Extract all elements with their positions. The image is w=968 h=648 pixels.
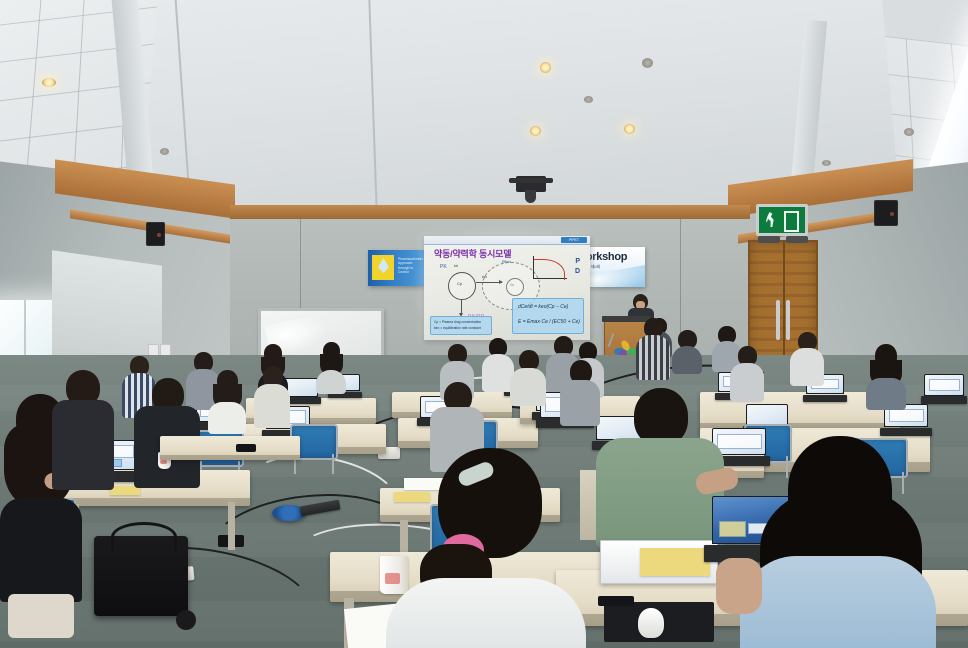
downlight (42, 78, 56, 87)
desk (160, 436, 300, 460)
attendee (254, 366, 290, 428)
projection-screen: PIPET 약동/약력학 동시모델 PK Cp kel Ce keo Effec… (424, 236, 590, 340)
downlight (642, 58, 653, 68)
equation-1: dCe/dt = keo(Cp − Ce) (518, 304, 568, 310)
downlight (160, 148, 169, 155)
definition-box: Cp = Plasma drug concentration keo = equ… (430, 316, 492, 335)
downlight (540, 62, 551, 73)
downlight (530, 126, 541, 136)
attendee (134, 378, 200, 488)
attendee-green-shirt (596, 388, 724, 548)
desk-leg (228, 502, 235, 550)
definition-1: Cp = Plasma drug concentration (434, 320, 481, 324)
keo-label: keo (482, 275, 487, 279)
definition-2: keo = equilibration rate constant (434, 326, 481, 330)
elimination-arrow (461, 299, 462, 313)
effect-concentration-graph (528, 256, 568, 282)
banner-left-line4: Control (398, 270, 423, 274)
attendee (316, 342, 346, 394)
keo-arrow (476, 282, 502, 283)
attendee (208, 370, 246, 434)
downlight (822, 160, 831, 166)
attendee-front-center (386, 448, 586, 648)
attendee-front-right (740, 436, 936, 648)
attendee (672, 330, 702, 374)
slide-pk-label: PK (440, 264, 447, 270)
pk-compartment (448, 272, 476, 300)
ceiling-projector (516, 176, 546, 192)
wall-speaker-left (146, 222, 165, 246)
kel-label: kel (454, 264, 458, 268)
attendee (790, 332, 824, 386)
exit-sign (756, 204, 808, 236)
wall-speaker-right (874, 200, 898, 226)
notepad (640, 548, 710, 576)
pd-label-d: D (575, 268, 580, 275)
attendee (52, 370, 114, 490)
attendee-arm (716, 558, 762, 614)
downlight (584, 96, 593, 103)
cable (598, 596, 634, 606)
equation-box: dCe/dt = keo(Cp − Ce) E = Emax·Ce / (EC5… (512, 298, 584, 334)
slide-header-logo: PIPET (561, 237, 587, 243)
laptop-adapter (236, 444, 256, 452)
laptop[interactable] (924, 374, 964, 404)
banner-left: Pharmacokinetic Approach through to Cont… (368, 250, 424, 286)
attendee (636, 318, 670, 380)
downlight (904, 128, 914, 136)
handbag (94, 536, 188, 616)
attendee (730, 346, 764, 402)
pd-label-p: P (575, 258, 580, 265)
effect-label: Effect (502, 260, 511, 264)
attendee (560, 360, 600, 426)
downlight (624, 124, 635, 134)
attendee (510, 350, 546, 406)
bag-wheel (176, 610, 196, 630)
computer-mouse[interactable] (638, 608, 664, 638)
lecture-hall-photo: Pharmacokinetic Approach through to Cont… (0, 0, 968, 648)
attendee (866, 344, 906, 410)
cp-label: Cp (457, 281, 462, 286)
wood-trim-center (230, 205, 750, 219)
slide-title: 약동/약력학 동시모델 (434, 247, 511, 260)
equation-2: E = Emax·Ce / (EC50 + Ce) (518, 319, 580, 325)
